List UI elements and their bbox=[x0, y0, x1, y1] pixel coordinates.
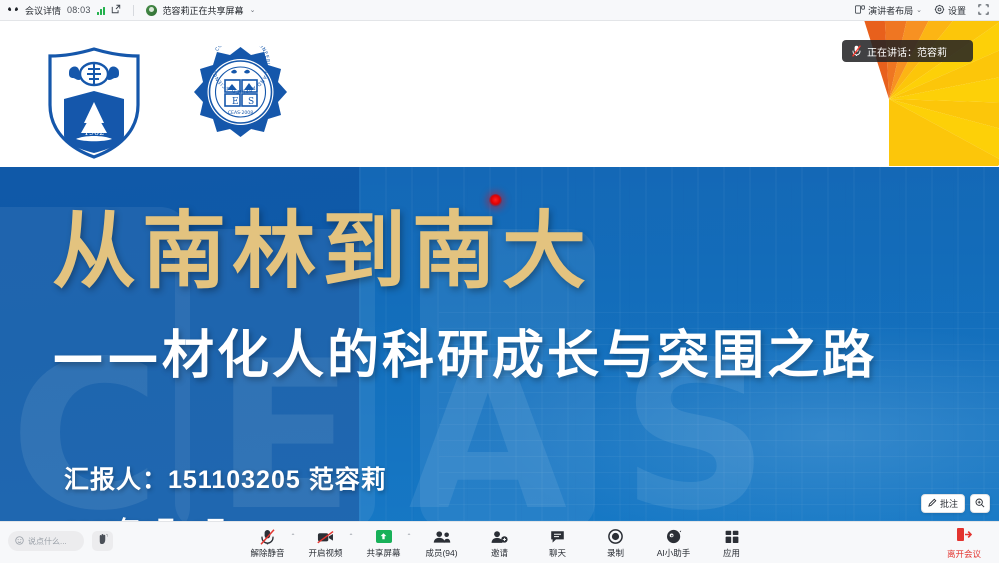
popout-window-icon[interactable] bbox=[111, 4, 121, 16]
tool-label: 邀请 bbox=[491, 547, 508, 559]
pencil-icon bbox=[928, 498, 937, 509]
sharing-status-label: 范容莉正在共享屏幕 bbox=[163, 4, 244, 17]
slide-date: 2025年5月12日 bbox=[64, 510, 228, 521]
magnifier-plus-icon bbox=[975, 498, 985, 510]
chevron-up-icon[interactable]: ⌃ bbox=[406, 533, 411, 540]
ceas-college-seal: E S CEAS·2008 现代工程与应用科学学院 COLLEGE OF ENG… bbox=[184, 46, 297, 159]
signal-bars-icon[interactable] bbox=[97, 6, 105, 15]
logo-group: 1902 bbox=[44, 46, 297, 159]
meeting-timer: 08:03 bbox=[67, 5, 91, 15]
meeting-window: 会议详情 08:03 范容莉正在共享屏幕 ⌄ 演讲者布局 ⌄ bbox=[0, 0, 999, 563]
mic-muted-icon bbox=[260, 528, 275, 545]
annotate-button[interactable]: 批注 bbox=[921, 494, 965, 513]
meeting-tools: 解除静音 ⌃ 开启视频 ⌃ 共享屏幕 ⌃ bbox=[0, 525, 999, 563]
chevron-down-icon: ⌄ bbox=[916, 6, 922, 14]
apps-grid-icon bbox=[725, 528, 739, 545]
leave-meeting-label: 离开会议 bbox=[947, 548, 981, 560]
slide-body: CEAS 从南林到南大 ——材化人的科研成长与突围之路 汇报人：15110320… bbox=[0, 167, 999, 521]
tool-invite[interactable]: 邀请 bbox=[471, 525, 529, 559]
svg-text:现代工程与应用科学学院: 现代工程与应用科学学院 bbox=[216, 124, 265, 131]
tool-label: 聊天 bbox=[549, 547, 566, 559]
presenter-cursor-dot bbox=[489, 194, 502, 207]
top-bar: 会议详情 08:03 范容莉正在共享屏幕 ⌄ 演讲者布局 ⌄ bbox=[0, 0, 999, 21]
chat-icon bbox=[550, 528, 565, 545]
camera-off-icon bbox=[317, 528, 334, 545]
tool-label: 成员(94) bbox=[425, 547, 457, 559]
tool-label: 共享屏幕 bbox=[366, 547, 400, 559]
ai-assistant-icon bbox=[666, 528, 682, 545]
tool-apps[interactable]: 应用 bbox=[703, 525, 761, 559]
fullscreen-icon[interactable] bbox=[978, 4, 989, 17]
meeting-details-icon bbox=[7, 5, 19, 16]
mic-muted-icon bbox=[852, 45, 861, 57]
slide-subtitle: ——材化人的科研成长与突围之路 bbox=[52, 330, 877, 382]
tool-share-screen[interactable]: 共享屏幕 ⌃ bbox=[355, 525, 413, 559]
divider bbox=[133, 5, 134, 16]
svg-text:CEAS·2008: CEAS·2008 bbox=[228, 110, 253, 116]
shared-screen-stage: 1902 bbox=[0, 21, 999, 521]
tool-members[interactable]: 成员(94) bbox=[413, 525, 471, 559]
chevron-up-icon[interactable]: ⌃ bbox=[290, 533, 295, 540]
people-icon bbox=[433, 528, 451, 545]
layout-icon bbox=[855, 5, 865, 16]
tool-unmute[interactable]: 解除静音 ⌃ bbox=[239, 525, 297, 559]
annotate-label: 批注 bbox=[940, 497, 958, 510]
exit-door-icon bbox=[956, 527, 972, 547]
leave-meeting-button[interactable]: 离开会议 bbox=[938, 527, 990, 560]
record-icon bbox=[608, 528, 623, 545]
svg-text:S: S bbox=[248, 97, 254, 107]
share-screen-icon bbox=[376, 528, 392, 545]
presentation-slide: 1902 bbox=[0, 21, 999, 521]
speaker-layout-button[interactable]: 演讲者布局 ⌄ bbox=[855, 4, 922, 17]
avatar bbox=[146, 5, 157, 16]
bottom-toolbar: 说点什么... 解除静音 ⌃ 开启视频 ⌃ bbox=[0, 521, 999, 563]
tool-label: AI小助手 bbox=[657, 547, 691, 559]
tool-label: 解除静音 bbox=[250, 547, 284, 559]
settings-label: 设置 bbox=[948, 4, 966, 17]
chevron-up-icon[interactable]: ⌃ bbox=[348, 533, 353, 540]
speaking-label: 正在讲话：范容莉 bbox=[867, 44, 947, 59]
tool-ai-assistant[interactable]: AI小助手 bbox=[645, 525, 703, 559]
person-add-icon bbox=[491, 528, 508, 545]
slide-presenter: 汇报人：151103205 范容莉 bbox=[64, 460, 387, 496]
tool-label: 应用 bbox=[723, 547, 740, 559]
settings-button[interactable]: 设置 bbox=[934, 4, 966, 17]
tool-chat[interactable]: 聊天 bbox=[529, 525, 587, 559]
gear-icon bbox=[934, 4, 945, 17]
slide-title: 从南林到南大 bbox=[52, 209, 592, 293]
chevron-down-icon[interactable]: ⌄ bbox=[250, 6, 256, 14]
svg-text:E: E bbox=[232, 97, 239, 107]
speaking-badge: 正在讲话：范容莉 bbox=[842, 40, 973, 62]
tool-label: 开启视频 bbox=[308, 547, 342, 559]
nanjing-university-logo: 1902 bbox=[44, 47, 144, 159]
annotation-toolbar: 批注 bbox=[921, 494, 990, 513]
tool-record[interactable]: 录制 bbox=[587, 525, 645, 559]
meeting-details-label[interactable]: 会议详情 bbox=[25, 4, 61, 17]
zoom-in-button[interactable] bbox=[970, 494, 990, 513]
svg-text:1902: 1902 bbox=[84, 128, 104, 137]
tool-start-video[interactable]: 开启视频 ⌃ bbox=[297, 525, 355, 559]
speaker-layout-label: 演讲者布局 bbox=[868, 4, 913, 17]
tool-label: 录制 bbox=[607, 547, 624, 559]
